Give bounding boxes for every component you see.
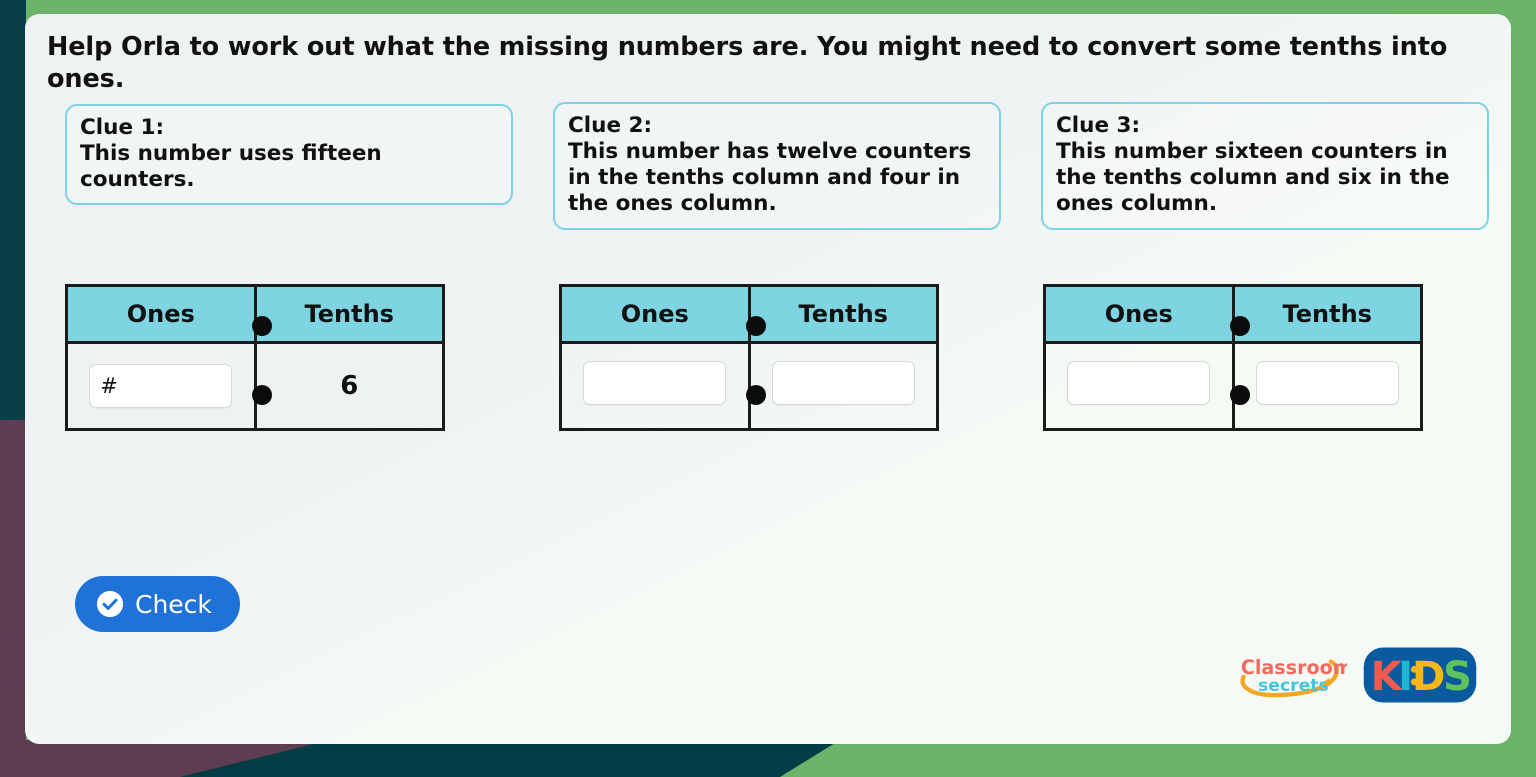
tenths-cell-1: 6 <box>255 342 444 429</box>
frame-band-purple-left <box>0 420 26 777</box>
decimal-point-dot <box>252 316 272 336</box>
activity-card: Help Orla to work out what the missing n… <box>25 14 1511 744</box>
decimal-point-dot <box>746 385 766 405</box>
table-row: # 6 <box>67 342 444 429</box>
ones-cell-2 <box>561 342 750 429</box>
svg-text:S: S <box>1443 654 1472 700</box>
kids-logo: K I D S <box>1361 644 1479 706</box>
place-value-table-1: Ones Tenths # 6 <box>65 284 445 431</box>
clue-card-2: Clue 2: This number has twelve counters … <box>553 102 1001 230</box>
page-title: Help Orla to work out what the missing n… <box>47 32 1489 96</box>
ones-answer-input-2[interactable] <box>583 361 726 405</box>
place-value-table-group: Ones Tenths # 6 <box>47 284 1489 444</box>
check-circle-icon <box>97 591 123 617</box>
clue-1-title: Clue 1: <box>80 115 499 141</box>
check-button-label: Check <box>135 590 212 619</box>
column-header-tenths: Tenths <box>1233 285 1422 342</box>
decimal-point-dot <box>1230 316 1250 336</box>
svg-text:Classroom: Classroom <box>1241 656 1347 679</box>
tenths-cell-2 <box>749 342 938 429</box>
column-header-tenths: Tenths <box>255 285 444 342</box>
column-header-tenths: Tenths <box>749 285 938 342</box>
clue-list: Clue 1: This number uses fifteen counter… <box>47 104 1489 276</box>
tenths-cell-3 <box>1233 342 1422 429</box>
place-value-table-2: Ones Tenths <box>559 284 939 431</box>
decimal-point-dot <box>746 316 766 336</box>
check-button[interactable]: Check <box>75 576 240 632</box>
classroom-secrets-logo: Classroom secrets <box>1237 652 1347 698</box>
ones-cell-3 <box>1045 342 1234 429</box>
logo-group: Classroom secrets K I D S <box>1237 644 1479 706</box>
ones-answer-input-1[interactable]: # <box>89 364 232 408</box>
tenths-answer-input-3[interactable] <box>1256 361 1399 405</box>
clue-3-text: This number sixteen counters in the tent… <box>1056 139 1475 218</box>
clue-card-1: Clue 1: This number uses fifteen counter… <box>65 104 513 206</box>
decimal-point-dot <box>1230 385 1250 405</box>
tenths-answer-input-2[interactable] <box>772 361 915 405</box>
table-row <box>1045 342 1422 429</box>
place-value-table-3: Ones Tenths <box>1043 284 1423 431</box>
frame-band-green-top <box>0 0 1536 14</box>
clue-2-title: Clue 2: <box>568 113 987 139</box>
decimal-point-dot <box>252 385 272 405</box>
frame-band-teal-left <box>0 0 26 420</box>
svg-text:secrets: secrets <box>1258 676 1329 696</box>
ones-answer-input-3[interactable] <box>1067 361 1210 405</box>
clue-2-text: This number has twelve counters in the t… <box>568 139 987 218</box>
tenths-static-value-1: 6 <box>340 371 358 401</box>
svg-text:I: I <box>1398 654 1413 700</box>
column-header-ones: Ones <box>561 285 750 342</box>
table-row <box>561 342 938 429</box>
clue-1-text: This number uses fifteen counters. <box>80 141 499 193</box>
clue-card-3: Clue 3: This number sixteen counters in … <box>1041 102 1489 230</box>
ones-cell-1: # <box>67 342 256 429</box>
frame-band-green-bottom <box>760 740 1536 777</box>
svg-text:D: D <box>1412 654 1445 700</box>
column-header-ones: Ones <box>1045 285 1234 342</box>
column-header-ones: Ones <box>67 285 256 342</box>
clue-3-title: Clue 3: <box>1056 113 1475 139</box>
